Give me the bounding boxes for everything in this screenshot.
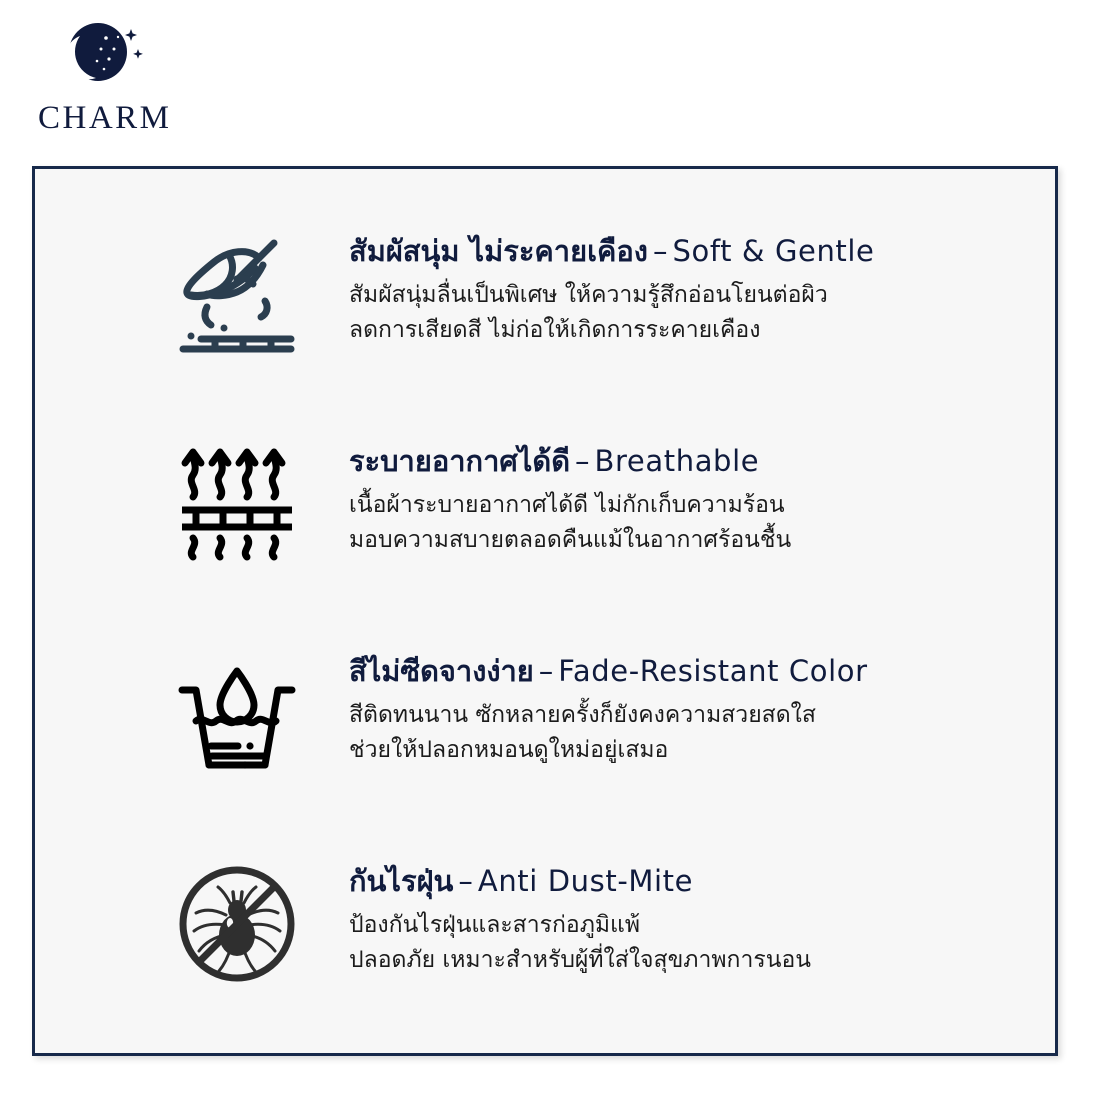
feature-title-thai: ระบายอากาศได้ดี [349,444,570,478]
feature-text: ระบายอากาศได้ดี–Breathable เนื้อผ้าระบาย… [307,441,1015,558]
feature-desc-line: ลดการเสียดสี ไม่ก่อให้เกิดการระคายเคือง [349,313,1015,348]
feature-card: สัมผัสนุ่ม ไม่ระคายเคือง–Soft & Gentle ส… [32,166,1058,1056]
feature-list: สัมผัสนุ่ม ไม่ระคายเคือง–Soft & Gentle ส… [35,169,1055,1053]
feature-row: สัมผัสนุ่ม ไม่ระคายเคือง–Soft & Gentle ส… [167,231,1015,441]
feature-title-english: Anti Dust-Mite [478,864,693,898]
feature-title-dash: – [570,444,595,478]
feature-row: สีไม่ซีดจางง่าย–Fade-Resistant Color สีต… [167,651,1015,861]
feature-desc-line: สีติดทนนาน ซักหลายครั้งก็ยังคงความสวยสดใ… [349,698,1015,733]
feature-title-english: Fade-Resistant Color [558,654,867,688]
feature-title-english: Soft & Gentle [672,234,874,268]
feature-desc-line: ปลอดภัย เหมาะสำหรับผู้ที่ใส่ใจสุขภาพการน… [349,943,1015,978]
airflow-through-fabric-icon [167,441,307,563]
feature-desc-line: มอบความสบายตลอดคืนแม้ในอากาศร้อนชื้น [349,523,1015,558]
feature-title-dash: – [648,234,673,268]
feature-description: เนื้อผ้าระบายอากาศได้ดี ไม่กักเก็บความร้… [349,488,1015,558]
feature-title-thai: กันไรฝุ่น [349,864,453,898]
feature-title-thai: สีไม่ซีดจางง่าย [349,654,534,688]
feature-title-dash: – [453,864,478,898]
brand-logo: CHARM [36,16,236,135]
no-dust-mite-icon [167,861,307,983]
feature-title: สัมผัสนุ่ม ไม่ระคายเคือง–Soft & Gentle [349,233,1015,269]
feature-title: สีไม่ซีดจางง่าย–Fade-Resistant Color [349,653,1015,689]
feature-text: กันไรฝุ่น–Anti Dust-Mite ป้องกันไรฝุ่นแล… [307,861,1015,978]
wash-basin-water-drop-icon [167,651,307,777]
feature-description: ป้องกันไรฝุ่นและสารก่อภูมิแพ้ ปลอดภัย เห… [349,908,1015,978]
feature-desc-line: ป้องกันไรฝุ่นและสารก่อภูมิแพ้ [349,908,1015,943]
feather-on-fabric-icon [167,231,307,353]
feature-title: กันไรฝุ่น–Anti Dust-Mite [349,863,1015,899]
brand-name: CHARM [38,102,236,135]
feature-description: สีติดทนนาน ซักหลายครั้งก็ยังคงความสวยสดใ… [349,698,1015,768]
feature-title-thai: สัมผัสนุ่ม ไม่ระคายเคือง [349,234,648,268]
feature-title: ระบายอากาศได้ดี–Breathable [349,443,1015,479]
feature-description: สัมผัสนุ่มลื่นเป็นพิเศษ ให้ความรู้สึกอ่อ… [349,278,1015,348]
feature-row: ระบายอากาศได้ดี–Breathable เนื้อผ้าระบาย… [167,441,1015,651]
feature-desc-line: เนื้อผ้าระบายอากาศได้ดี ไม่กักเก็บความร้… [349,488,1015,523]
feature-text: สัมผัสนุ่ม ไม่ระคายเคือง–Soft & Gentle ส… [307,231,1015,348]
crescent-moon-stars-icon [52,16,148,100]
feature-text: สีไม่ซีดจางง่าย–Fade-Resistant Color สีต… [307,651,1015,768]
feature-row: กันไรฝุ่น–Anti Dust-Mite ป้องกันไรฝุ่นแล… [167,861,1015,1071]
feature-desc-line: สัมผัสนุ่มลื่นเป็นพิเศษ ให้ความรู้สึกอ่อ… [349,278,1015,313]
feature-title-english: Breathable [595,444,760,478]
feature-title-dash: – [534,654,559,688]
feature-desc-line: ช่วยให้ปลอกหมอนดูใหม่อยู่เสมอ [349,733,1015,768]
